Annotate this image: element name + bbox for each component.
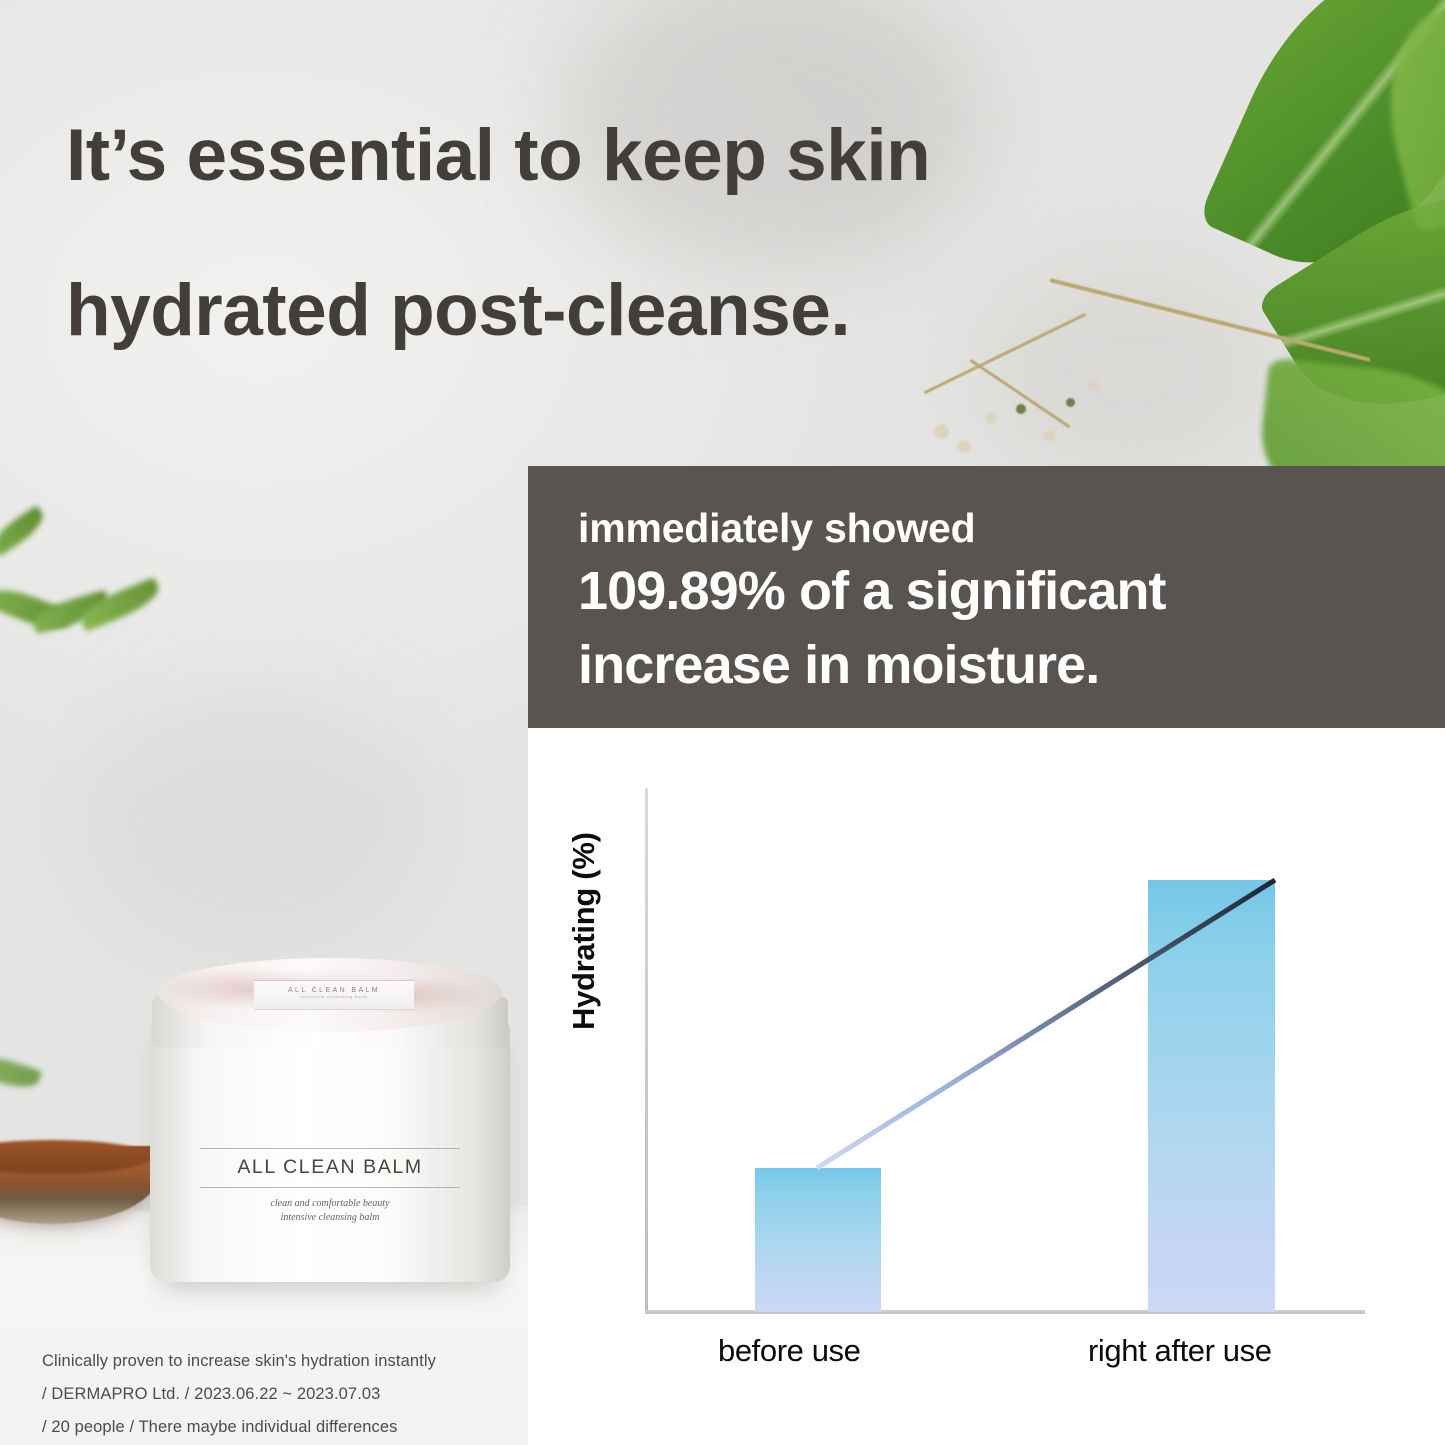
headline-line-1: It’s essential to keep skin	[66, 78, 1206, 233]
product-tagline-line1: clean and comfortable beauty	[194, 1197, 466, 1211]
wall-shadow-blob	[90, 690, 420, 950]
note-line-2: / DERMAPRO Ltd. / 2023.06.22 ~ 2023.07.0…	[42, 1378, 522, 1411]
promo-graphic: ALL CLEAN BALM intensive cleansing balm …	[0, 0, 1445, 1445]
chart-x-tick-before-use: before use	[718, 1333, 861, 1369]
page-title: It’s essential to keep skin hydrated pos…	[66, 78, 1206, 388]
lid-product-name: ALL CLEAN BALM	[254, 987, 414, 994]
product-tagline: clean and comfortable beauty intensive c…	[194, 1188, 466, 1225]
callout-big-line-1: 109.89% of a significant	[578, 554, 1445, 628]
lid-name-plate: ALL CLEAN BALM intensive cleansing balm	[254, 980, 414, 1010]
clinical-study-note: Clinically proven to increase skin's hyd…	[42, 1345, 522, 1444]
product-jar: ALL CLEAN BALM intensive cleansing balm …	[150, 952, 510, 1282]
bowl-interior	[0, 1140, 152, 1174]
berry-icon	[1066, 398, 1075, 407]
chart-x-tick-after-use: right after use	[1088, 1333, 1272, 1369]
headline-line-2: hydrated post-cleanse.	[66, 233, 1206, 388]
callout-big-line-2: increase in moisture.	[578, 628, 1445, 702]
berry-icon	[1044, 430, 1056, 442]
jar-lid: ALL CLEAN BALM intensive cleansing balm	[158, 958, 502, 1032]
lid-product-sub: intensive cleansing balm	[254, 994, 414, 999]
berry-icon	[934, 424, 949, 439]
jar-front-label: ALL CLEAN BALM clean and comfortable bea…	[194, 1148, 466, 1225]
note-line-1: Clinically proven to increase skin's hyd…	[42, 1345, 522, 1378]
berry-icon	[958, 440, 971, 453]
berry-icon	[985, 412, 997, 424]
product-name: ALL CLEAN BALM	[194, 1149, 466, 1187]
product-tagline-line2: intensive cleansing balm	[194, 1211, 466, 1225]
chart-y-axis-label: Hydrating (%)	[566, 730, 602, 1030]
statistic-callout: immediately showed 109.89% of a signific…	[528, 466, 1445, 728]
chart-trend-line	[645, 788, 1365, 1312]
berry-icon	[1016, 404, 1026, 414]
callout-small-line: immediately showed	[578, 502, 1445, 554]
note-line-3: / 20 people / There maybe individual dif…	[42, 1411, 522, 1444]
